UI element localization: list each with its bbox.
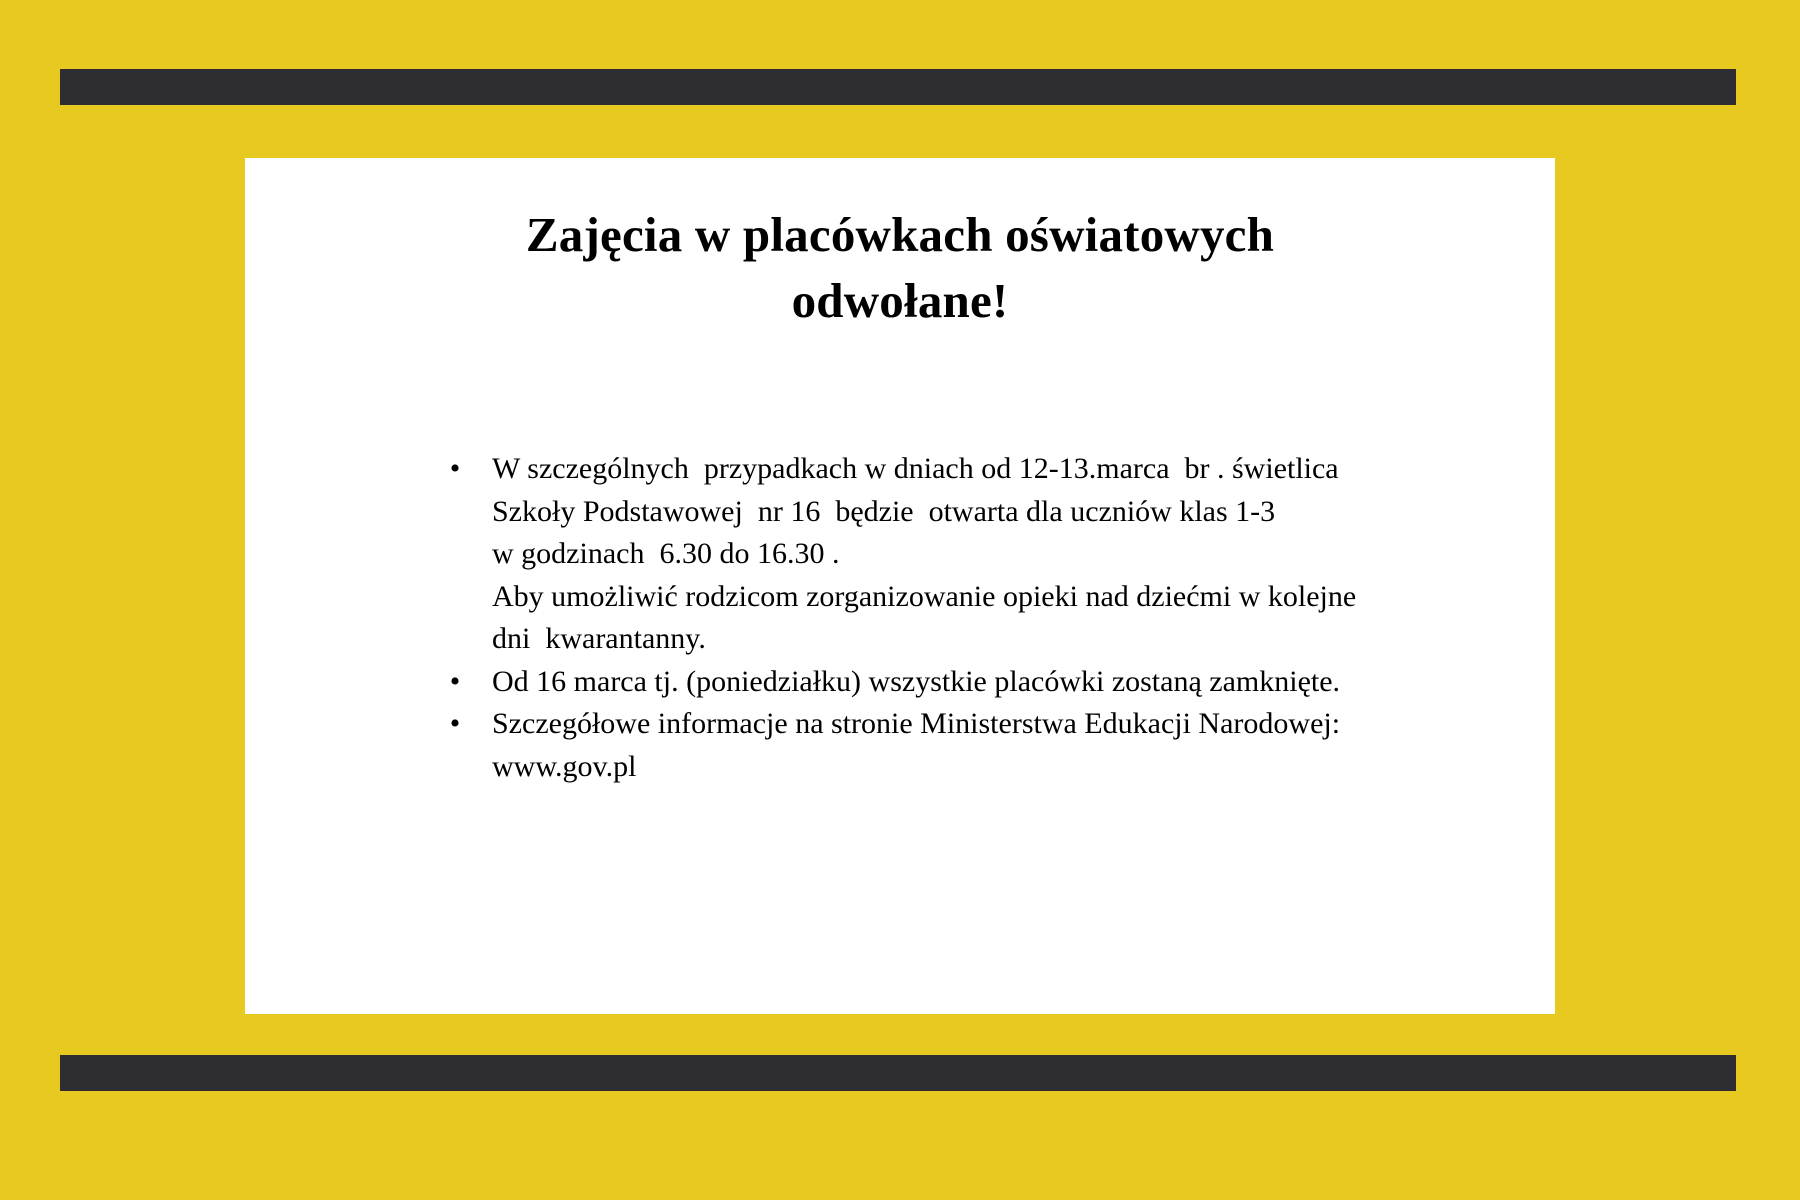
list-item-line: Od 16 marca tj. (poniedziałku) wszystkie…	[492, 661, 1400, 704]
list-item: • Od 16 marca tj. (poniedziałku) wszystk…	[440, 661, 1400, 704]
bullet-marker-icon: •	[440, 661, 470, 704]
list-item-line-url: www.gov.pl	[492, 746, 1400, 789]
decorative-bar-bottom	[60, 1055, 1736, 1091]
content-card: Zajęcia w placówkach oświatowych odwołan…	[245, 158, 1555, 1014]
slide-canvas: Zajęcia w placówkach oświatowych odwołan…	[0, 0, 1800, 1200]
list-item-line: W szczególnych przypadkach w dniach od 1…	[492, 448, 1400, 491]
list-item-line: Szkoły Podstawowej nr 16 będzie otwarta …	[492, 491, 1400, 534]
page-title: Zajęcia w placówkach oświatowych odwołan…	[245, 202, 1555, 334]
list-item-line: Szczegółowe informacje na stronie Minist…	[492, 703, 1400, 746]
list-item-line: w godzinach 6.30 do 16.30 .	[492, 533, 1400, 576]
decorative-bar-top	[60, 69, 1736, 105]
list-item: • W szczególnych przypadkach w dniach od…	[440, 448, 1400, 661]
list-item-line: dni kwarantanny.	[492, 618, 1400, 661]
list-item-line: Aby umożliwić rodzicom zorganizowanie op…	[492, 576, 1400, 619]
bullet-marker-icon: •	[440, 448, 470, 491]
bullet-marker-icon: •	[440, 703, 470, 746]
page-title-line-2: odwołane!	[375, 268, 1425, 334]
list-item-text: Szczegółowe informacje na stronie Minist…	[492, 703, 1400, 788]
page-title-line-1: Zajęcia w placówkach oświatowych	[375, 202, 1425, 268]
list-item-text: Od 16 marca tj. (poniedziałku) wszystkie…	[492, 661, 1400, 704]
list-item-text: W szczególnych przypadkach w dniach od 1…	[492, 448, 1400, 661]
announcement-bullet-list: • W szczególnych przypadkach w dniach od…	[440, 448, 1400, 788]
list-item: • Szczegółowe informacje na stronie Mini…	[440, 703, 1400, 788]
